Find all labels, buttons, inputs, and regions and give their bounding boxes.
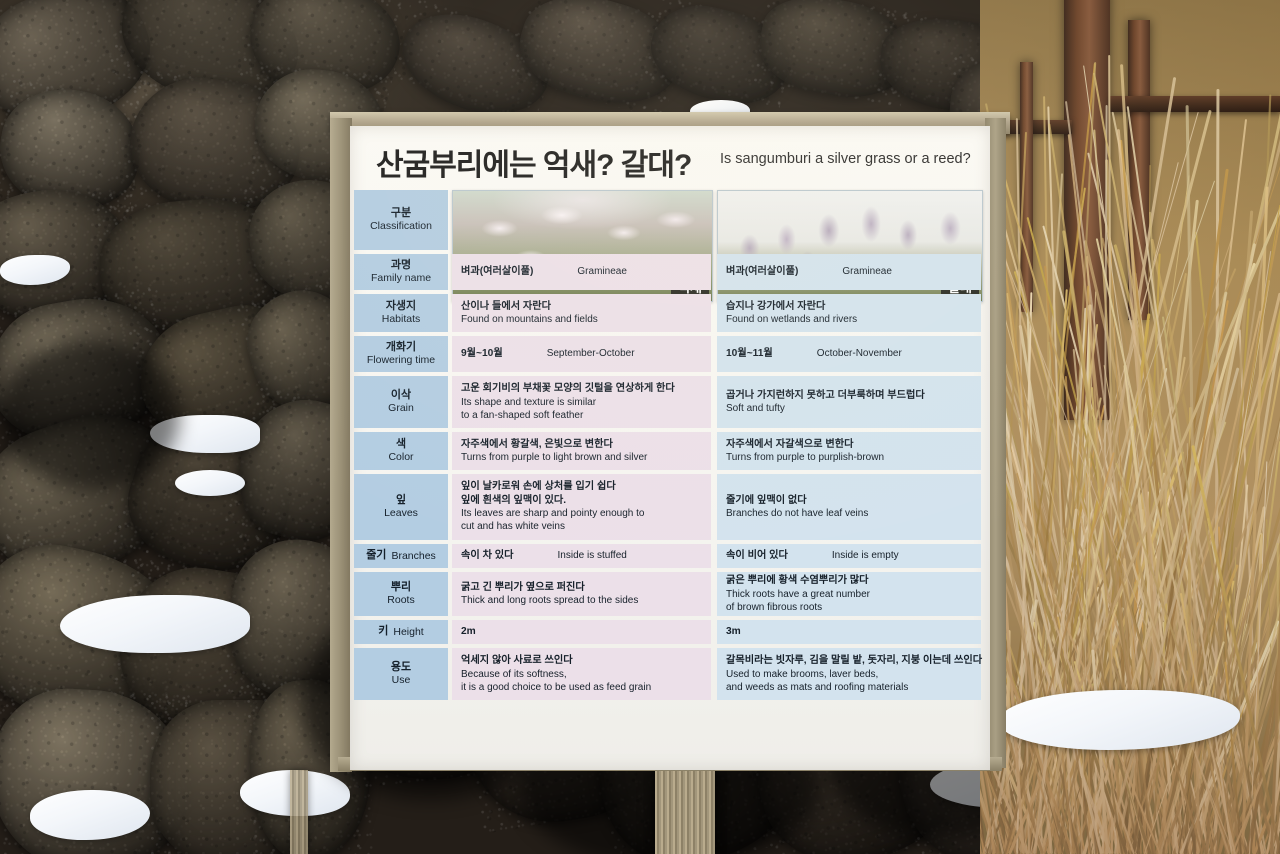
cell-habitats-col1: 산이나 들에서 자란다Found on mountains and fields [452,294,711,332]
row-label-branches: 줄기Branches [354,544,448,568]
table-row-branches: 줄기Branches속이 차 있다Inside is stuffed속이 비어 … [350,544,990,568]
cell-text-en: Inside is empty [832,549,899,562]
table-row-classification: 구분Classification [350,190,990,250]
snow-patch [175,470,245,496]
sign-title-bar: 산굼부리에는 억새? 갈대? Is sangumburi a silver gr… [350,126,990,188]
cell-text-en: Gramineae [842,265,891,278]
cell-text-en: Soft and tufty [726,402,981,415]
cell-inline: 10월~11월October-November [726,347,981,360]
row-label-en: Flowering time [367,354,435,367]
cell-text-en: Its shape and texture is similar [461,396,711,409]
cell-use-col1: 억세지 않아 사료로 쓰인다Because of its softness,it… [452,648,711,700]
row-label-color: 색Color [354,432,448,470]
cell-text-en: September-October [547,347,635,360]
sign-support-post-center [655,764,715,854]
sign-frame-left [330,118,352,772]
row-label-family-name: 과명Family name [354,254,448,290]
cell-flowering-time-col1: 9월~10월September-October [452,336,711,372]
row-label-en: Classification [370,220,432,233]
row-label-en: Grain [388,402,414,415]
fence-rail-upper [1110,96,1280,112]
cell-text-ko: 곱거나 가지런하지 못하고 더부룩하며 부드럽다 [726,389,981,402]
row-label-ko: 용도 [391,661,411,674]
row-label-grain: 이삭Grain [354,376,448,428]
cell-text-en: Turns from purple to light brown and sil… [461,451,711,464]
cell-text-ko: 9월~10월 [461,347,503,360]
table-row-roots: 뿌리Roots굵고 긴 뿌리가 옆으로 퍼진다Thick and long ro… [350,572,990,616]
cell-height-col2: 3m [717,620,981,644]
cell-text-ko: 산이나 들에서 자란다 [461,300,711,313]
cell-text-ko: 굵고 긴 뿌리가 옆으로 퍼진다 [461,581,711,594]
cell-roots-col2: 굵은 뿌리에 황색 수염뿌리가 많다Thick roots have a gre… [717,572,981,616]
cell-text-en: Turns from purple to purplish-brown [726,451,981,464]
cell-text-en: Found on mountains and fields [461,313,711,326]
cell-family-name-col2: 벼과(여러살이풀)Gramineae [717,254,981,290]
cell-leaves-col2: 줄기에 잎맥이 없다Branches do not have leaf vein… [717,474,981,540]
cell-text-ko: 억세지 않아 사료로 쓰인다 [461,654,711,667]
cell-branches-col2: 속이 비어 있다Inside is empty [717,544,981,568]
cell-text-ko: 굵은 뿌리에 황색 수염뿌리가 많다 [726,574,981,587]
cell-inline: 속이 차 있다Inside is stuffed [461,549,711,562]
row-label-en: Branches [391,550,435,563]
cell-text-en: Thick roots have a great number [726,588,981,601]
row-label-ko: 개화기 [386,341,416,354]
cell-text-en2: cut and has white veins [461,520,711,533]
row-label-ko: 잎 [396,494,406,507]
cell-height-col1: 2m [452,620,711,644]
row-label-roots: 뿌리Roots [354,572,448,616]
cell-flowering-time-col2: 10월~11월October-November [717,336,981,372]
row-label-ko: 과명 [391,259,411,272]
cell-text-ko: 고운 회기비의 부채꽃 모양의 깃털을 연상하게 한다 [461,382,711,395]
table-row-grain: 이삭Grain고운 회기비의 부채꽃 모양의 깃털을 연상하게 한다Its sh… [350,376,990,428]
cell-habitats-col2: 습지나 강가에서 자란다Found on wetlands and rivers [717,294,981,332]
cell-text-ko: 줄기에 잎맥이 없다 [726,494,981,507]
cell-text-en: Branches do not have leaf veins [726,507,981,520]
row-label-en: Leaves [384,507,418,520]
row-label-ko: 자생지 [386,300,416,313]
cell-text-en: Its leaves are sharp and pointy enough t… [461,507,711,520]
information-sign: 산굼부리에는 억새? 갈대? Is sangumburi a silver gr… [330,112,1010,772]
row-label-habitats: 자생지Habitats [354,294,448,332]
cell-text-ko2: 잎에 흰색의 잎맥이 있다. [461,494,711,507]
cell-text-ko: 벼과(여러살이풀) [726,265,798,278]
cell-text-ko: 속이 비어 있다 [726,549,788,562]
cell-text-en: Found on wetlands and rivers [726,313,981,326]
row-label-en: Height [393,626,423,639]
table-row-use: 용도Use억세지 않아 사료로 쓰인다Because of its softne… [350,648,990,700]
table-row-leaves: 잎Leaves잎이 날카로워 손에 상처를 입기 쉽다잎에 흰색의 잎맥이 있다… [350,474,990,540]
table-row-height: 키Height2m3m [350,620,990,644]
cell-text-ko: 3m [726,625,981,638]
cell-text-ko: 2m [461,625,711,638]
cell-text-en2: and weeds as mats and roofing materials [726,681,981,694]
row-label-en: Habitats [382,313,421,326]
cell-text-en: Gramineae [577,265,626,278]
cell-inline: 벼과(여러살이풀)Gramineae [461,265,711,278]
cell-text-ko: 갈목비라는 빗자루, 김을 말릴 밭, 돗자리, 지붕 이는데 쓰인다 [726,654,981,667]
row-label-ko: 뿌리 [391,581,411,594]
cell-color-col1: 자주색에서 황갈색, 은빛으로 변한다Turns from purple to … [452,432,711,470]
cell-text-ko: 자주색에서 자갈색으로 변한다 [726,438,981,451]
row-label-use: 용도Use [354,648,448,700]
cell-text-ko: 10월~11월 [726,347,773,360]
table-row-family-name: 과명Family name벼과(여러살이풀)Gramineae벼과(여러살이풀)… [350,254,990,290]
row-label-en: Color [388,451,413,464]
cell-text-ko: 습지나 강가에서 자란다 [726,300,981,313]
rock-shadow [0,340,180,490]
cell-grain-col2: 곱거나 가지런하지 못하고 더부룩하며 부드럽다Soft and tufty [717,376,981,428]
cell-text-ko: 벼과(여러살이풀) [461,265,533,278]
cell-text-en2: it is a good choice to be used as feed g… [461,681,711,694]
row-label-leaves: 잎Leaves [354,474,448,540]
row-label-ko: 이삭 [391,389,411,402]
row-label-ko: 키 [378,625,388,638]
cell-text-en2: to a fan-shaped soft feather [461,409,711,422]
title-english: Is sangumburi a silver grass or a reed? [720,151,971,167]
cell-family-name-col1: 벼과(여러살이풀)Gramineae [452,254,711,290]
row-label-flowering-time: 개화기Flowering time [354,336,448,372]
cell-text-en: Thick and long roots spread to the sides [461,594,711,607]
cell-grain-col1: 고운 회기비의 부채꽃 모양의 깃털을 연상하게 한다Its shape and… [452,376,711,428]
cell-text-en: Used to make brooms, laver beds, [726,668,981,681]
row-label-height: 키Height [354,620,448,644]
cell-use-col2: 갈목비라는 빗자루, 김을 말릴 밭, 돗자리, 지붕 이는데 쓰인다Used … [717,648,981,700]
cell-text-ko: 잎이 날카로워 손에 상처를 입기 쉽다 [461,480,711,493]
photo-scene: 산굼부리에는 억새? 갈대? Is sangumburi a silver gr… [0,0,1280,854]
row-gap [350,700,990,704]
row-label-en: Roots [387,594,414,607]
cell-text-ko: 속이 차 있다 [461,549,514,562]
cell-branches-col1: 속이 차 있다Inside is stuffed [452,544,711,568]
table-row-flowering-time: 개화기Flowering time9월~10월September-October… [350,336,990,372]
comparison-table: 구분Classification과명Family name벼과(여러살이풀)Gr… [350,190,990,704]
snow-patch [60,595,250,653]
row-label-ko: 줄기 [366,549,386,562]
cell-roots-col1: 굵고 긴 뿌리가 옆으로 퍼진다Thick and long roots spr… [452,572,711,616]
row-label-en: Use [392,674,411,687]
row-label-ko: 색 [396,438,406,451]
cell-inline: 9월~10월September-October [461,347,711,360]
cell-inline: 속이 비어 있다Inside is empty [726,549,981,562]
cell-inline: 벼과(여러살이풀)Gramineae [726,265,981,278]
cell-color-col2: 자주색에서 자갈색으로 변한다Turns from purple to purp… [717,432,981,470]
title-korean: 산굼부리에는 억새? 갈대? [376,140,691,184]
cell-leaves-col1: 잎이 날카로워 손에 상처를 입기 쉽다잎에 흰색의 잎맥이 있다.Its le… [452,474,711,540]
cell-text-en: Because of its softness, [461,668,711,681]
sign-panel: 산굼부리에는 억새? 갈대? Is sangumburi a silver gr… [350,126,990,770]
dry-grass-field [980,0,1280,854]
cell-text-en: Inside is stuffed [558,549,627,562]
table-row-habitats: 자생지Habitats산이나 들에서 자란다Found on mountains… [350,294,990,332]
row-label-en: Family name [371,272,431,285]
row-label-ko: 구분 [391,207,411,220]
cell-text-en: October-November [817,347,902,360]
cell-text-ko: 자주색에서 황갈색, 은빛으로 변한다 [461,438,711,451]
cell-text-en2: of brown fibrous roots [726,601,981,614]
row-label-classification: 구분Classification [354,190,448,250]
sign-support-post-left [290,770,308,854]
table-row-color: 색Color자주색에서 황갈색, 은빛으로 변한다Turns from purp… [350,432,990,470]
